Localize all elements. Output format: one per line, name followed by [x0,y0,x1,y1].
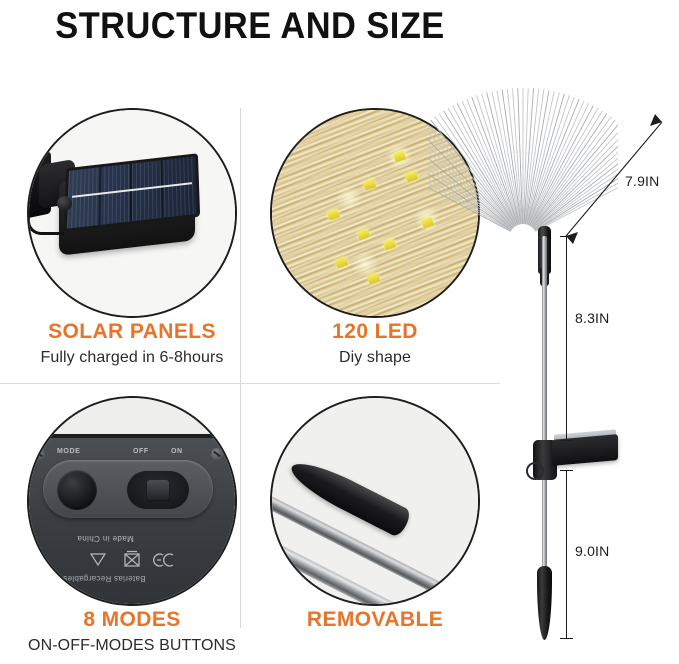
dimension-line-upper-stem [566,236,567,440]
dimension-tick [560,440,573,441]
metal-pole [542,236,547,596]
solar-panel-photo-wrap [27,108,237,318]
screw-icon [211,448,223,460]
solar-box-body [552,434,618,466]
feature-subtitle: Fully charged in 6-8hours [12,349,252,367]
feature-heading: SOLAR PANELS [12,320,252,344]
feature-heading: 8 MODES [12,608,252,632]
controls-photo-wrap: MODE OFF ON Made in China [27,396,237,606]
mode-label: MODE [57,448,80,455]
feature-subtitle: ON-OFF-MODES BUTTONS [12,637,252,655]
stake-scene [272,398,478,604]
feature-solar-panels: SOLAR PANELS Fully charged in 6-8hours [12,108,252,367]
dimension-label-lower-stem: 9.0IN [575,543,609,559]
power-wire [27,210,64,235]
off-label: OFF [133,448,149,455]
stake-photo-wrap [270,396,480,606]
made-in-text: Made in China [77,534,134,543]
mode-button [57,470,97,510]
dimension-line-lower-stem [566,470,567,638]
control-panel-scene: MODE OFF ON Made in China [29,398,235,604]
page-title: STRUCTURE AND SIZE [18,4,483,48]
stake-rod-photo [270,396,480,606]
on-label: ON [171,448,183,455]
power-switch-key [147,480,169,500]
ground-stake-tip [537,566,552,640]
divider-horizontal [0,383,500,384]
product-illustration: 7.9IN 8.3IN 9.0IN [500,0,679,664]
pivot-knob [57,196,72,211]
feature-subtitle: Diy shape [255,349,495,367]
dimension-label-upper-stem: 8.3IN [575,310,609,326]
compliance-symbols [81,550,185,570]
dimension-tick [560,638,573,639]
feature-modes: MODE OFF ON Made in China [12,396,252,655]
control-buttons-photo: MODE OFF ON Made in China [27,396,237,606]
feature-heading: REMOVABLE [255,608,495,632]
infographic-page: STRUCTURE AND SIZE [0,0,679,664]
panel-seam [130,164,132,222]
panel-cell-stripes [67,156,197,228]
screw-icon [33,448,45,460]
compliance-symbols-svg [81,550,185,570]
solar-panel-photo [27,108,237,318]
led-glow [334,186,364,210]
dimension-label-fan-width: 7.9IN [625,173,659,189]
feature-heading: 120 LED [255,320,495,344]
solar-panel-scene [29,110,235,316]
battery-note-text: Baterias Recargables [63,574,145,583]
feature-removable: REMOVABLE [255,396,495,637]
